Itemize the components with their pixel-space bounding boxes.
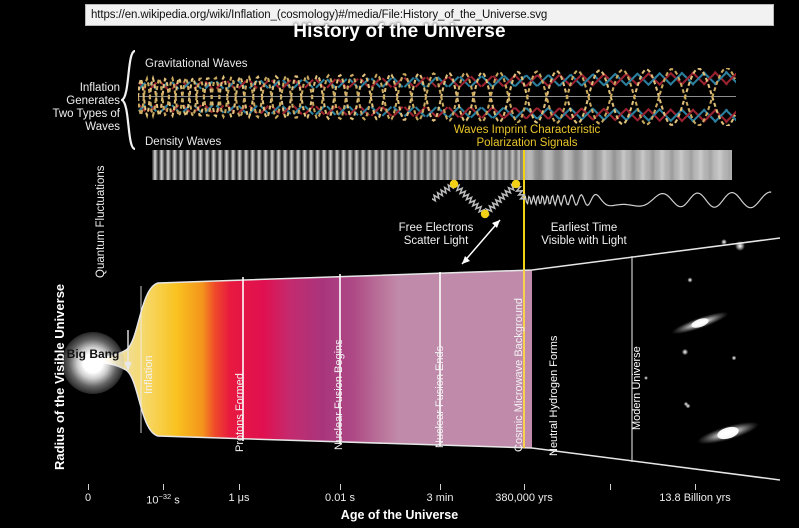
x-tick (524, 484, 525, 490)
x-tick-label: 13.8 Billion yrs (659, 492, 731, 504)
era-label: Modern Universe (631, 346, 643, 430)
x-tick (695, 484, 696, 490)
arrow-down-icon (123, 330, 133, 372)
x-tick-label: 380,000 yrs (495, 492, 552, 504)
big-bang-glow (62, 332, 124, 394)
x-tick (610, 484, 611, 490)
x-tick (440, 484, 441, 490)
era-label: Protons Formed (234, 373, 246, 452)
era-label: Cosmic Microwave Background (513, 298, 525, 452)
big-bang-label: Big Bang (62, 348, 124, 362)
inflation-brace-label: Inflation Generates Two Types of Waves (44, 82, 120, 134)
brace-icon (121, 50, 137, 150)
gravitational-waves-graphic (138, 68, 736, 126)
x-tick (239, 484, 240, 490)
x-tick-label: 0.01 s (325, 492, 355, 504)
era-label: Nuclear Fusion Ends (434, 346, 446, 448)
era-label: Inflation (143, 355, 155, 394)
era-label: Nuclear Fusion Begins (333, 339, 345, 450)
x-tick-label: 3 min (427, 492, 454, 504)
x-tick-label: 1 μs (228, 492, 249, 504)
quantum-fluctuations-label: Quantum Fluctuations (95, 165, 108, 278)
polarization-label: Waves Imprint Characteristic Polarizatio… (432, 124, 622, 150)
x-tick-label: 0 (85, 492, 91, 504)
figure-title: History of the Universe (0, 21, 799, 43)
x-tick (163, 484, 164, 490)
density-waves-label: Density Waves (145, 136, 221, 149)
figure-viewport: https://en.wikipedia.org/wiki/Inflation_… (0, 0, 799, 528)
x-tick (88, 484, 89, 490)
quantum-fluctuations-annotation: Quantum Fluctuations (95, 278, 208, 291)
x-tick (340, 484, 341, 490)
x-axis-label: Age of the Universe (0, 508, 799, 522)
x-axis-ticks: 010−32 s1 μs0.01 s3 min380,000 yrs13.8 B… (0, 484, 799, 502)
density-waves-overlay (152, 150, 732, 180)
era-label: Neutral Hydrogen Forms (548, 336, 560, 456)
x-tick-label: 10−32 s (146, 492, 180, 507)
url-text: https://en.wikipedia.org/wiki/Inflation_… (86, 9, 547, 21)
